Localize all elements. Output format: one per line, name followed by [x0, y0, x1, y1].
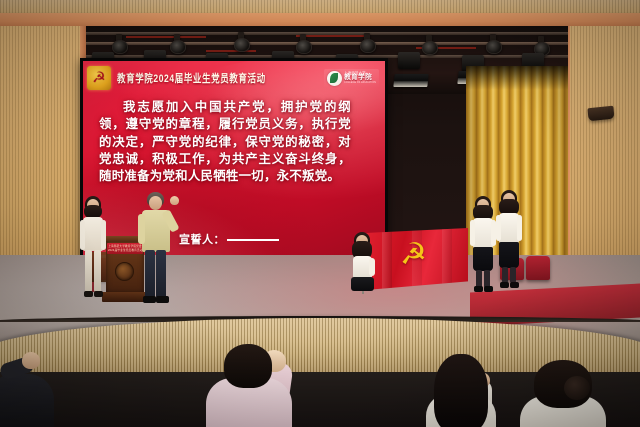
par-light-icon — [170, 40, 186, 54]
person-podium-speaker — [136, 192, 182, 304]
school-logo: 上海师范大学 教育学院 COLLEGE OF EDUCATION — [324, 69, 379, 88]
emblem-seal-icon — [115, 262, 134, 281]
audience-head — [434, 354, 488, 427]
school-english-name: COLLEGE OF EDUCATION — [344, 82, 376, 84]
oath-signer-label: 宣誓人： — [179, 234, 225, 246]
stage-chair — [526, 256, 550, 280]
proscenium-top-trim — [0, 13, 640, 27]
audience-head — [224, 344, 272, 388]
screen-header-title: 教育学院2024届毕业生党员教育活动 — [117, 71, 324, 86]
person-flagbearer-stand — [470, 196, 496, 294]
party-emblem-icon: ☭ — [87, 66, 111, 90]
person-flagbearer-kneel — [350, 232, 376, 292]
oath-signer-line: 宣誓人： — [179, 231, 279, 247]
audience-woman-long-hair — [420, 354, 512, 427]
wall-speaker-icon — [587, 106, 614, 122]
ceiling-band — [0, 0, 640, 14]
par-light-icon — [296, 40, 312, 54]
par-light-icon — [112, 40, 128, 54]
flag-hammer-sickle-icon: ☭ — [400, 240, 427, 270]
oath-text: 我志愿加入中国共产党，拥护党的纲领，遵守党的章程，履行党员义务，执行党的决定，严… — [99, 99, 351, 186]
raised-fist — [170, 196, 179, 205]
person-stage-left — [80, 196, 106, 300]
par-light-icon — [422, 41, 438, 55]
fresnel-light-icon — [398, 52, 420, 69]
party-flag: ☭ — [366, 228, 468, 290]
person-stage-right — [496, 190, 522, 290]
hair-bun — [564, 376, 590, 400]
audience-man-center — [196, 342, 326, 427]
auditorium-stage-photo: ☭ 教育学院2024届毕业生党员教育活动 上海师范大学 教育学院 COLLEGE… — [0, 0, 640, 427]
par-light-icon — [360, 39, 376, 53]
par-light-icon — [486, 40, 502, 54]
stage-spotlight-icon — [393, 74, 428, 87]
audience-woman-bun — [520, 360, 624, 427]
audience-left-edge — [0, 352, 78, 427]
par-light-icon — [234, 38, 250, 52]
raised-fist — [22, 352, 40, 369]
hammer-and-sickle-glyph: ☭ — [92, 71, 105, 86]
school-leaf-icon — [327, 71, 342, 86]
signature-rule — [227, 239, 279, 241]
screen-header-bar: ☭ 教育学院2024届毕业生党员教育活动 上海师范大学 教育学院 COLLEGE… — [83, 61, 385, 95]
